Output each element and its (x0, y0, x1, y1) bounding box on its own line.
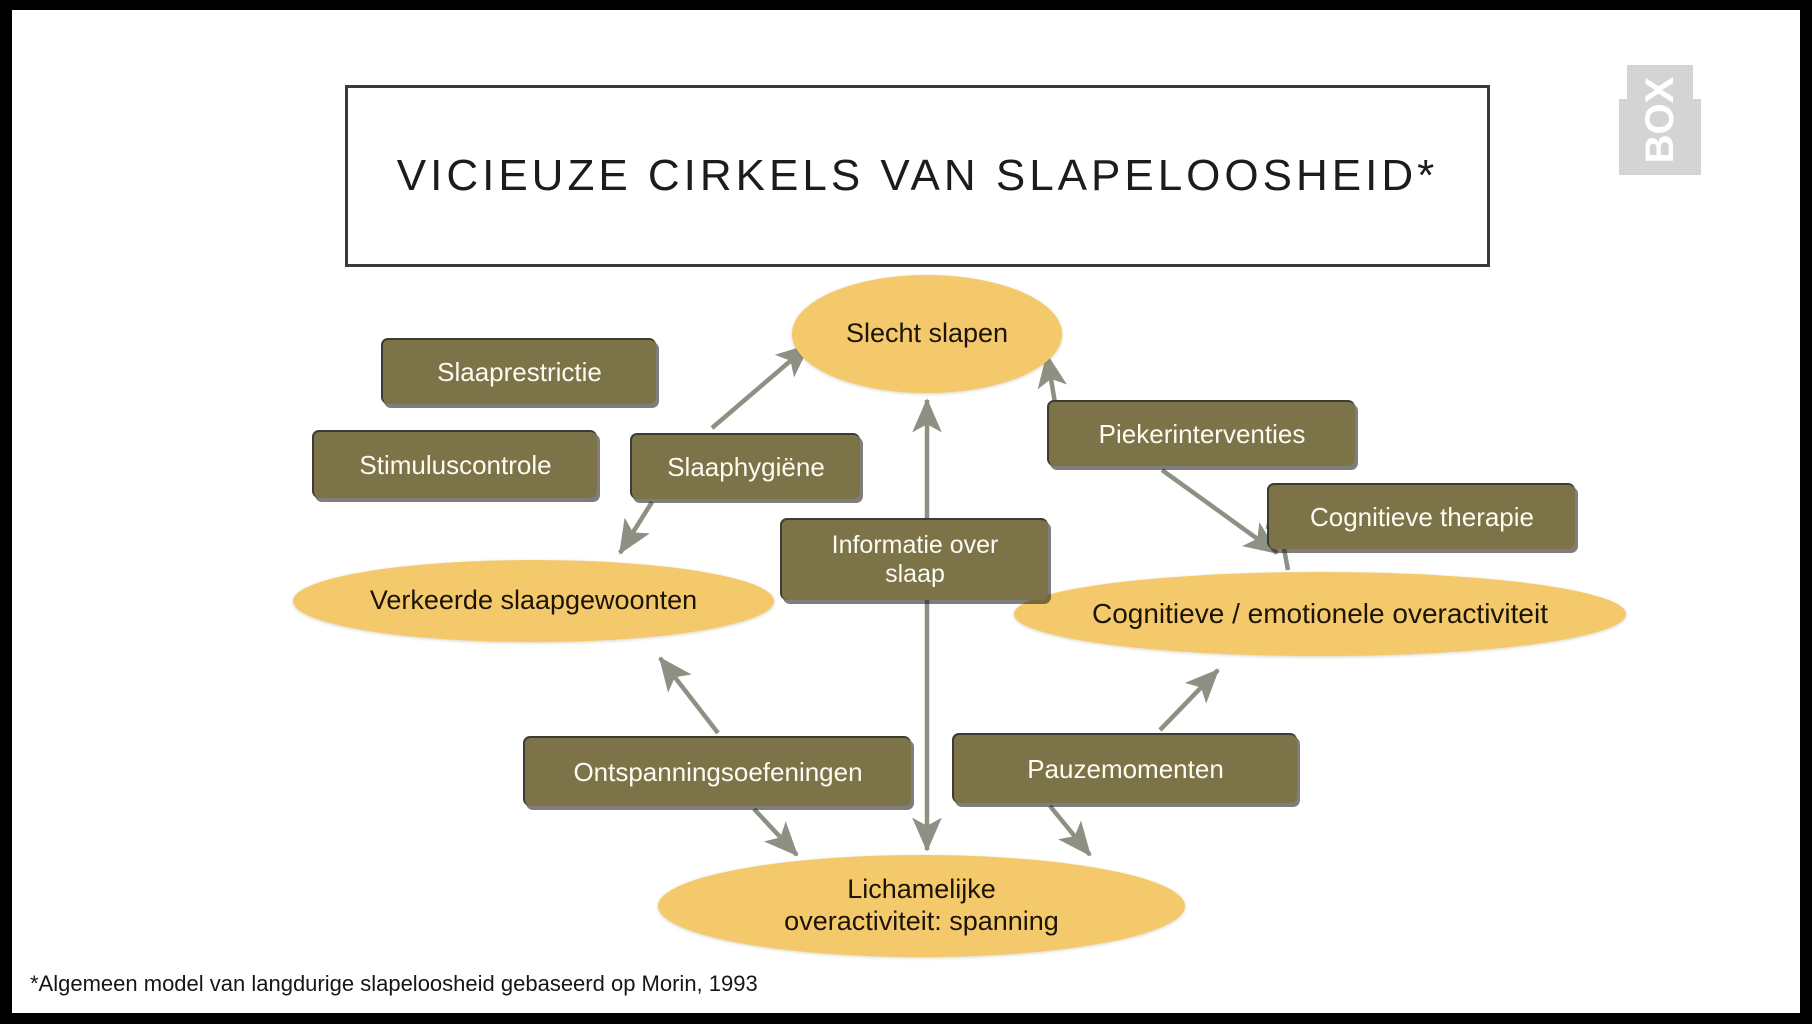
node-label: Cognitieve therapie (1310, 502, 1534, 533)
node-slaaphygiene[interactable]: Slaaphygiëne (630, 433, 860, 499)
node-informatie-over-slaap[interactable]: Informatie over slaap (780, 518, 1048, 600)
edge-pauzemomenten-to-cognitieve-over (1160, 670, 1218, 730)
edge-piekerinterventies-to-cognitieve-therapie (1162, 470, 1277, 553)
edge-slaaphygiene-to-slecht-slapen (712, 345, 809, 428)
node-label-line1: Informatie over (832, 531, 999, 559)
edge-piekerinterventies-to-slecht-slapen (1047, 355, 1055, 403)
node-label: Pauzemomenten (1027, 754, 1224, 785)
node-label: Piekerinterventies (1099, 419, 1306, 450)
node-label: Lichamelijke overactiviteit: spanning (784, 874, 1059, 938)
node-label: Stimuluscontrole (359, 450, 551, 481)
node-label: Slaaphygiëne (667, 452, 825, 483)
node-label: Slecht slapen (846, 318, 1008, 350)
node-cognitieve-therapie[interactable]: Cognitieve therapie (1267, 483, 1575, 549)
node-piekerinterventies[interactable]: Piekerinterventies (1047, 400, 1355, 466)
node-label: Cognitieve / emotionele overactiviteit (1092, 597, 1548, 630)
node-label: Verkeerde slaapgewoonten (370, 585, 697, 617)
edge-ontspanning-to-lichamelijke (754, 809, 797, 855)
title-box: VICIEUZE CIRKELS VAN SLAPELOOSHEID* (345, 85, 1490, 267)
node-label: Informatie over slaap (832, 531, 999, 590)
node-label-line2: slaap (885, 560, 945, 588)
node-label-line1: Lichamelijke (847, 874, 996, 904)
node-stimuluscontrole[interactable]: Stimuluscontrole (312, 430, 597, 498)
node-label-line2: overactiviteit: spanning (784, 906, 1059, 936)
node-verkeerde-slaapgewoonten[interactable]: Verkeerde slaapgewoonten (293, 560, 774, 642)
node-cognitieve-emotionele-overactiviteit[interactable]: Cognitieve / emotionele overactiviteit (1014, 572, 1626, 656)
node-slaaprestrictie[interactable]: Slaaprestrictie (381, 338, 656, 404)
presentation-slide: VICIEUZE CIRKELS VAN SLAPELOOSHEID* BOX (12, 10, 1800, 1013)
node-pauzemomenten[interactable]: Pauzemomenten (952, 733, 1297, 803)
node-slecht-slapen[interactable]: Slecht slapen (792, 275, 1062, 393)
footnote: *Algemeen model van langdurige slapeloos… (30, 971, 758, 997)
node-label: Ontspanningsoefeningen (573, 757, 862, 788)
slide-screen: VICIEUZE CIRKELS VAN SLAPELOOSHEID* BOX (0, 0, 1812, 1024)
page-title: VICIEUZE CIRKELS VAN SLAPELOOSHEID* (348, 151, 1487, 201)
edge-slaaphygiene-to-verkeerde (620, 502, 652, 553)
edge-ontspanning-to-verkeerde (660, 658, 718, 733)
svg-text:BOX: BOX (1638, 76, 1682, 163)
box-logo: BOX (1617, 65, 1703, 175)
edge-pauzemomenten-to-lichamelijke (1050, 806, 1090, 855)
node-label: Slaaprestrictie (437, 357, 602, 388)
node-ontspanningsoefeningen[interactable]: Ontspanningsoefeningen (523, 736, 911, 806)
node-lichamelijke-overactiviteit[interactable]: Lichamelijke overactiviteit: spanning (658, 855, 1185, 957)
